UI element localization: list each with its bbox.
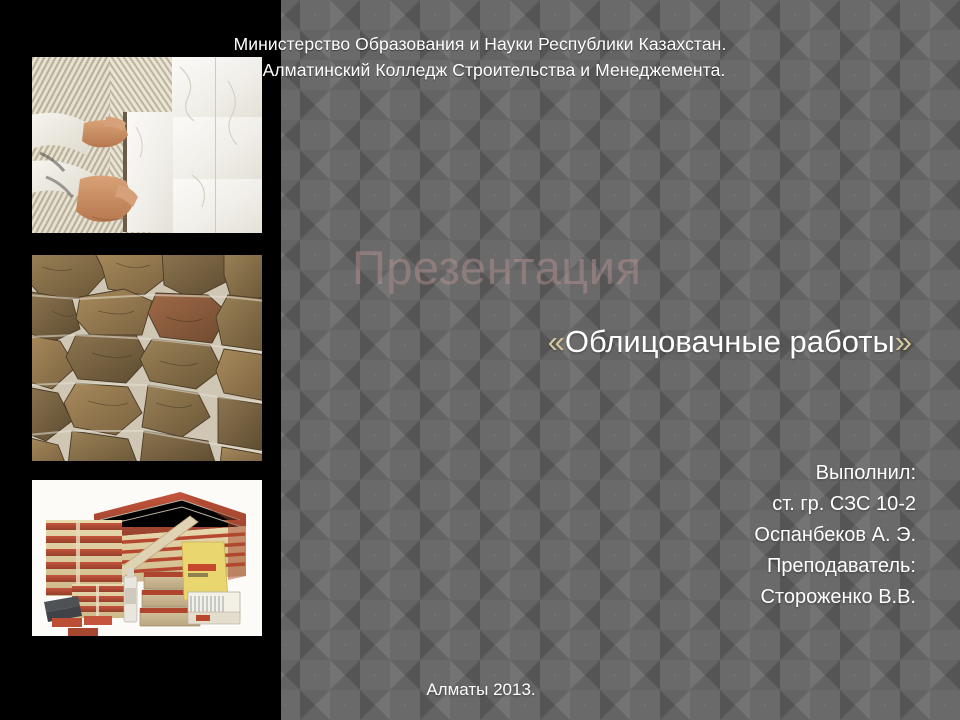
college-line: Алматинский Колледж Строительства и Мене… [0,57,960,83]
author-label: Выполнил: [754,458,916,489]
tiling-photo-image [32,57,262,233]
tiling-photo [32,57,262,233]
author-name: Оспанбеков А. Э. [754,520,916,551]
teacher-name: Стороженко В.В. [754,582,916,613]
institution-header: Министерство Образования и Науки Республ… [0,31,960,83]
author-group: ст. гр. СЗС 10-2 [754,489,916,520]
brick-materials-photo [32,480,262,636]
page-title: Презентация [352,240,912,296]
subtitle: «Облицовачные работы» [352,322,944,362]
brick-materials-photo-image [32,480,262,636]
ministry-line: Министерство Образования и Науки Республ… [0,31,960,57]
teacher-label: Преподаватель: [754,551,916,582]
stone-wall-photo [32,255,262,461]
subtitle-text: Облицовачные работы [565,324,895,359]
stone-wall-photo-image [32,255,262,461]
quote-close: » [895,324,912,359]
quote-open: « [548,324,565,359]
authors-block: Выполнил: ст. гр. СЗС 10-2 Оспанбеков А.… [754,458,916,613]
presentation-slide: Министерство Образования и Науки Республ… [0,0,960,720]
place-year-footer: Алматы 2013. [281,678,681,702]
